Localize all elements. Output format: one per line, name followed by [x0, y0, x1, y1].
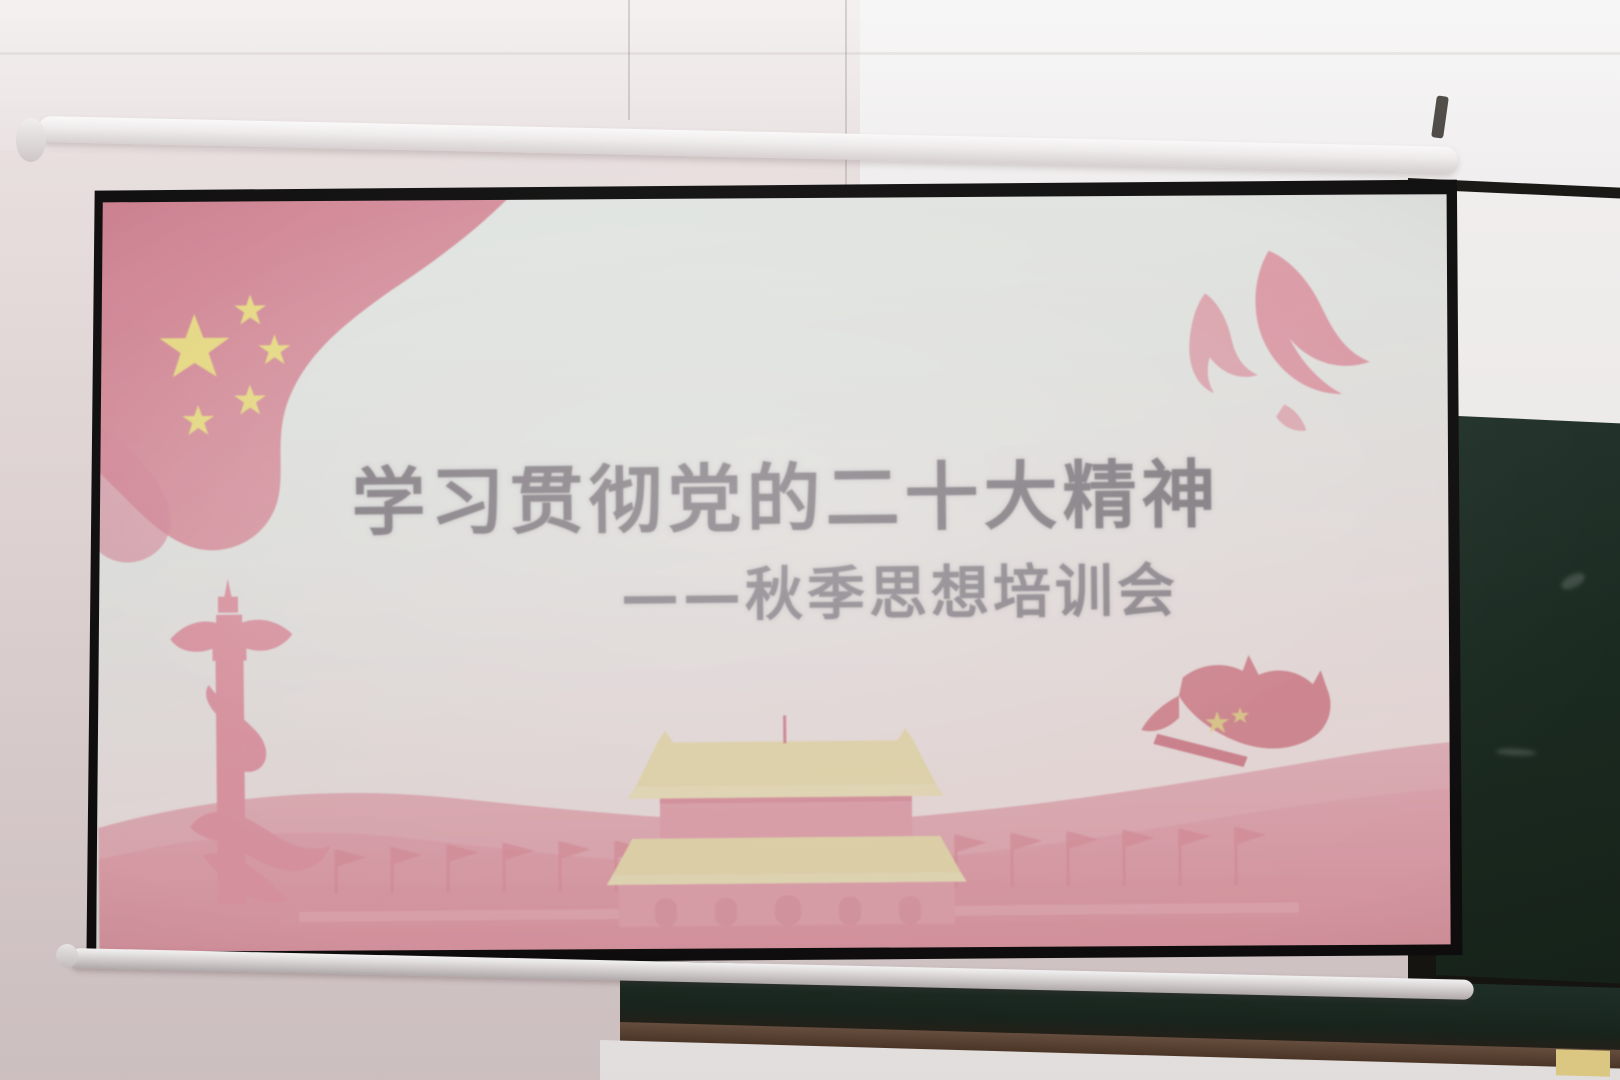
classroom-scene: 学习贯彻党的二十大精神 ——秋季思想培训会: [0, 0, 1620, 1080]
wall-above-chalkboard: [1432, 190, 1620, 429]
ceiling-trim: [0, 52, 1620, 55]
chalk-smudge: [1496, 748, 1536, 757]
presentation-slide: 学习贯彻党的二十大精神 ——秋季思想培训会: [96, 194, 1452, 952]
projector-screen-surface: 学习贯彻党的二十大精神 ——秋季思想培训会: [96, 194, 1452, 952]
wall-seam: [845, 0, 847, 200]
slide-artwork: [96, 194, 1452, 952]
chalkboard-surface: [1436, 415, 1620, 984]
wall-seam: [628, 0, 630, 120]
chalkboard-eraser: [1556, 1049, 1610, 1077]
chalk-smudge: [1559, 570, 1588, 593]
